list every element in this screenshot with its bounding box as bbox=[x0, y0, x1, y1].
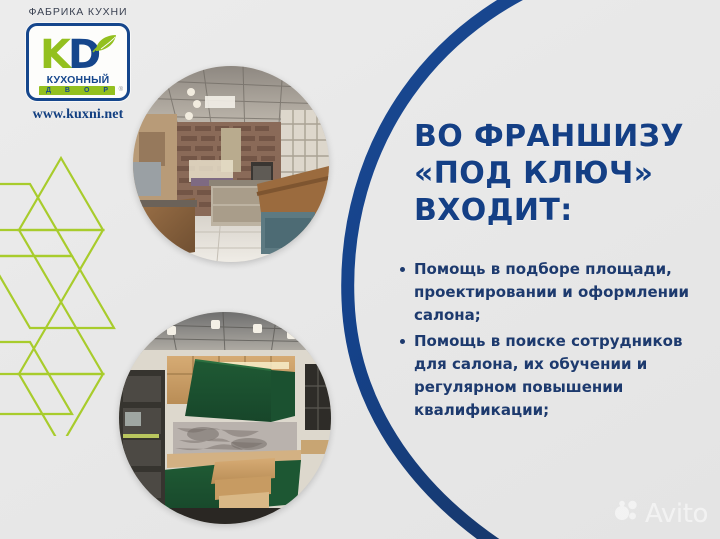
logo-monogram: K D bbox=[38, 33, 120, 77]
avito-logo-icon bbox=[614, 500, 640, 527]
logo-subletter: В bbox=[65, 86, 70, 95]
list-item: Помощь в поиске сотрудников для салона, … bbox=[396, 330, 704, 422]
leaf-icon bbox=[92, 33, 118, 60]
logo-name: КУХОННЫЙ bbox=[32, 74, 124, 86]
list-item: Помощь в подборе площади, проектировании… bbox=[396, 258, 704, 327]
promo-banner: ФАБРИКА КУХНИ K D КУХОННЫЙ Д bbox=[0, 0, 720, 539]
logo-subname: Д В О Р bbox=[39, 86, 115, 95]
avito-watermark: Avito bbox=[614, 500, 708, 527]
logo-subletter: Д bbox=[46, 86, 51, 95]
photo-kitchen-showroom-brick bbox=[133, 66, 329, 262]
avito-watermark-label: Avito bbox=[645, 501, 708, 527]
decorative-green-lattice bbox=[0, 146, 136, 441]
headline-line-3: ВХОДИТ: bbox=[414, 192, 704, 229]
website-url: www.kuxni.net bbox=[8, 107, 148, 123]
benefits-list: Помощь в подборе площади, проектировании… bbox=[396, 258, 704, 425]
registered-mark-icon: ® bbox=[119, 87, 123, 93]
page-title: ВО ФРАНШИЗУ «ПОД КЛЮЧ» ВХОДИТ: bbox=[414, 118, 704, 229]
photo-kitchen-showroom-green bbox=[119, 312, 331, 524]
logo-kicker: ФАБРИКА КУХНИ bbox=[8, 6, 148, 18]
company-logo: ФАБРИКА КУХНИ K D КУХОННЫЙ Д bbox=[8, 6, 148, 123]
logo-subletter: Р bbox=[103, 86, 108, 95]
logo-subletter: О bbox=[84, 86, 89, 95]
headline-line-2: «ПОД КЛЮЧ» bbox=[414, 155, 704, 192]
headline-line-1: ВО ФРАНШИЗУ bbox=[414, 118, 704, 155]
logo-letter-k: K bbox=[40, 35, 71, 75]
logo-card: K D КУХОННЫЙ Д В О Р bbox=[26, 23, 130, 101]
